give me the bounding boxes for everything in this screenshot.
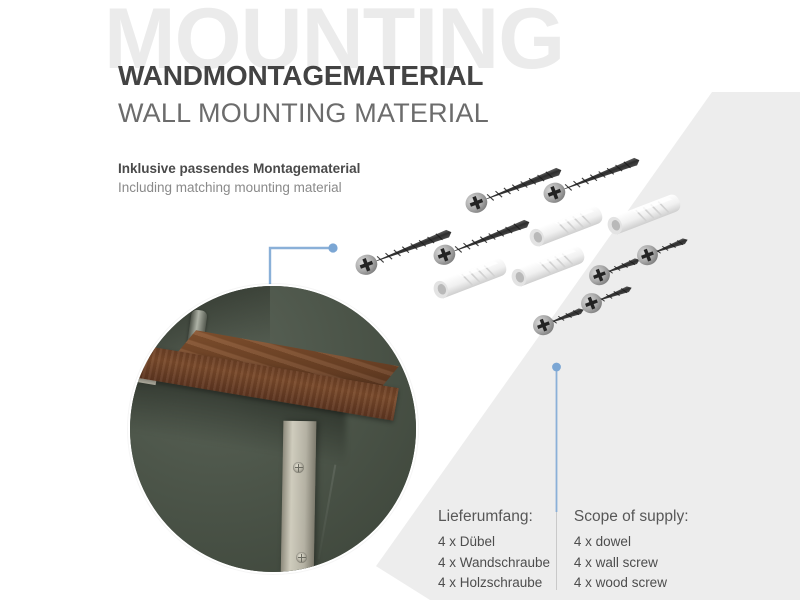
supply-item-de: 4 x Holzschraube [438, 573, 552, 594]
supply-item-en: 4 x dowel [574, 532, 738, 553]
wood-screw-4 [634, 230, 691, 268]
photo-bracket-screw-bottom [296, 552, 307, 563]
product-photo [128, 284, 418, 574]
supply-column-en: Scope of supply: 4 x dowel 4 x wall scre… [552, 508, 738, 594]
supply-item-en: 4 x wall screw [574, 553, 738, 574]
wood-screw-2 [578, 278, 635, 316]
photo-bracket-screw-top [293, 462, 304, 473]
page-title-en: WALL MOUNTING MATERIAL [118, 98, 489, 129]
supply-heading-en: Scope of supply: [574, 508, 738, 526]
supply-list: Lieferumfang: 4 x Dübel 4 x Wandschraube… [438, 508, 738, 594]
hardware-connector-line [552, 362, 561, 512]
caption-en: Including matching mounting material [118, 180, 342, 195]
page-title-de: WANDMONTAGEMATERIAL [118, 60, 483, 92]
caption-de: Inklusive passendes Montagematerial [118, 161, 360, 176]
dowel-4 [605, 193, 682, 237]
supply-column-de: Lieferumfang: 4 x Dübel 4 x Wandschraube… [438, 508, 552, 594]
wall-screw-1 [353, 223, 455, 278]
wall-screw-3 [463, 161, 565, 216]
dowel-3 [527, 205, 604, 249]
supply-item-de: 4 x Wandschraube [438, 553, 552, 574]
supply-item-de: 4 x Dübel [438, 532, 552, 553]
dowel-1 [431, 257, 508, 301]
infographic-page: MOUNTING WANDMONTAGEMATERIAL WALL MOUNTI… [0, 0, 800, 600]
photo-bracket-leg [281, 421, 317, 574]
wood-screw-3 [586, 250, 643, 288]
dowel-2 [509, 245, 586, 289]
supply-heading-de: Lieferumfang: [438, 508, 552, 526]
wall-screw-4 [541, 151, 643, 206]
wall-screw-2 [431, 213, 533, 268]
wood-screw-1 [530, 300, 587, 338]
supply-item-en: 4 x wood screw [574, 573, 738, 594]
